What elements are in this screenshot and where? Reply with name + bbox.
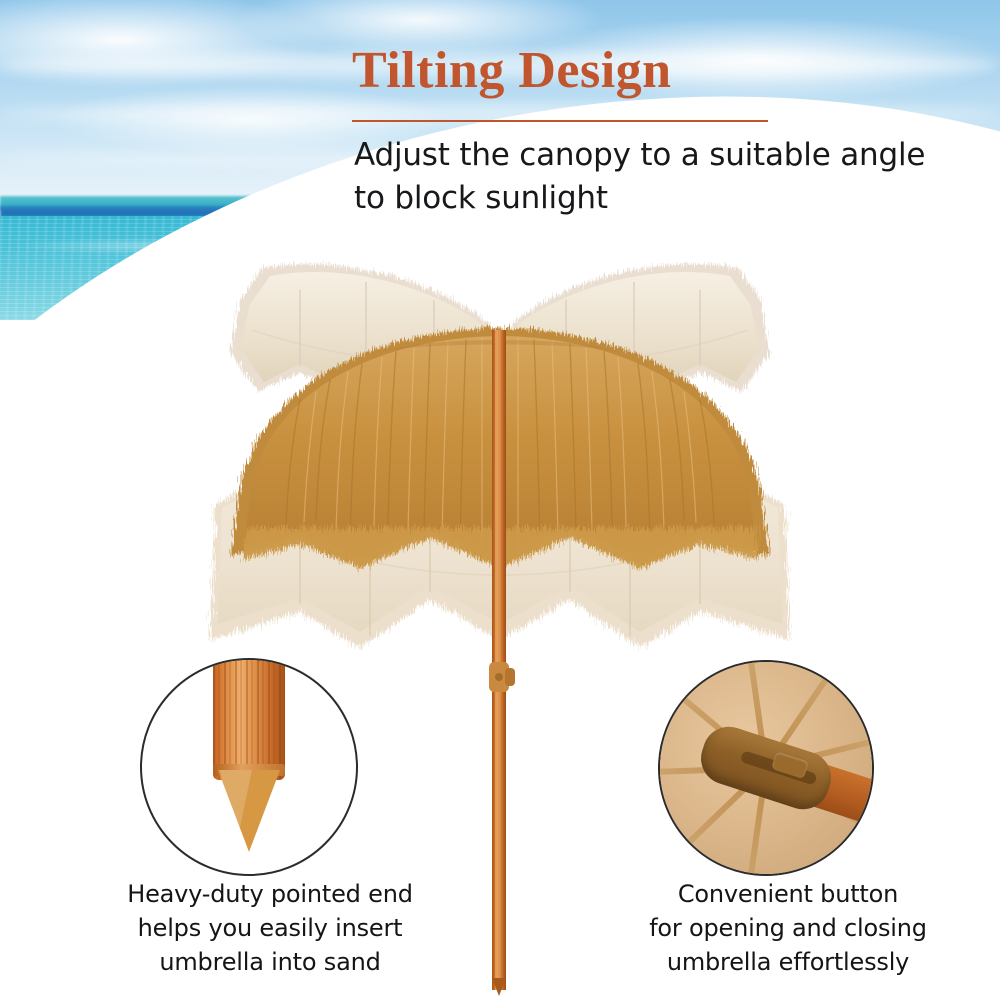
pointed-end-inset — [140, 658, 358, 876]
caption-right: Convenient button for opening and closin… — [578, 877, 998, 979]
caption-right-line-1: Convenient button — [578, 877, 998, 911]
page-subtitle: Adjust the canopy to a suitable angle to… — [354, 134, 974, 220]
tilt-joint — [489, 662, 515, 692]
canopy-lower-skirt — [210, 435, 790, 648]
subtitle-line-2: to block sunlight — [354, 177, 974, 220]
pole-wood-shaft — [213, 658, 285, 780]
button-inset — [658, 660, 874, 876]
title-underline — [352, 120, 768, 122]
caption-left: Heavy-duty pointed end helps you easily … — [60, 877, 480, 979]
caption-right-line-2: for opening and closing — [578, 911, 998, 945]
page-title: Tilting Design — [352, 42, 672, 100]
caption-left-line-2: helps you easily insert — [60, 911, 480, 945]
caption-right-line-3: umbrella effortlessly — [578, 945, 998, 979]
caption-left-line-1: Heavy-duty pointed end — [60, 877, 480, 911]
pointed-tip-highlight — [220, 770, 252, 846]
caption-left-line-3: umbrella into sand — [60, 945, 480, 979]
promo-image-root: Tilting Design Adjust the canopy to a su… — [0, 0, 1000, 1000]
umbrella-pole — [489, 330, 515, 996]
subtitle-line-1: Adjust the canopy to a suitable angle — [354, 134, 974, 177]
canopy-thatch-layer — [230, 328, 770, 568]
